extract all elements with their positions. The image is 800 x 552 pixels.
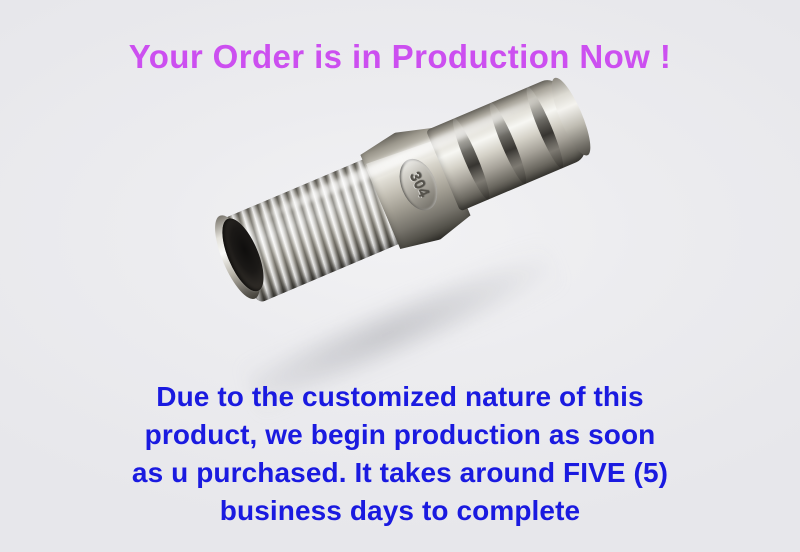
- product-photo: 304: [210, 130, 630, 380]
- notice-banner: Your Order is in Production Now ! 304 Du…: [0, 0, 800, 552]
- notice-line-3: as u purchased. It takes around FIVE (5): [0, 454, 800, 492]
- notice-line-4: business days to complete: [0, 492, 800, 530]
- headline-order-in-production: Your Order is in Production Now !: [0, 38, 800, 76]
- material-grade-text: 304: [405, 169, 432, 200]
- notice-line-1: Due to the customized nature of this: [0, 378, 800, 416]
- notice-line-2: product, we begin production as soon: [0, 416, 800, 454]
- production-notice-text: Due to the customized nature of this pro…: [0, 378, 800, 530]
